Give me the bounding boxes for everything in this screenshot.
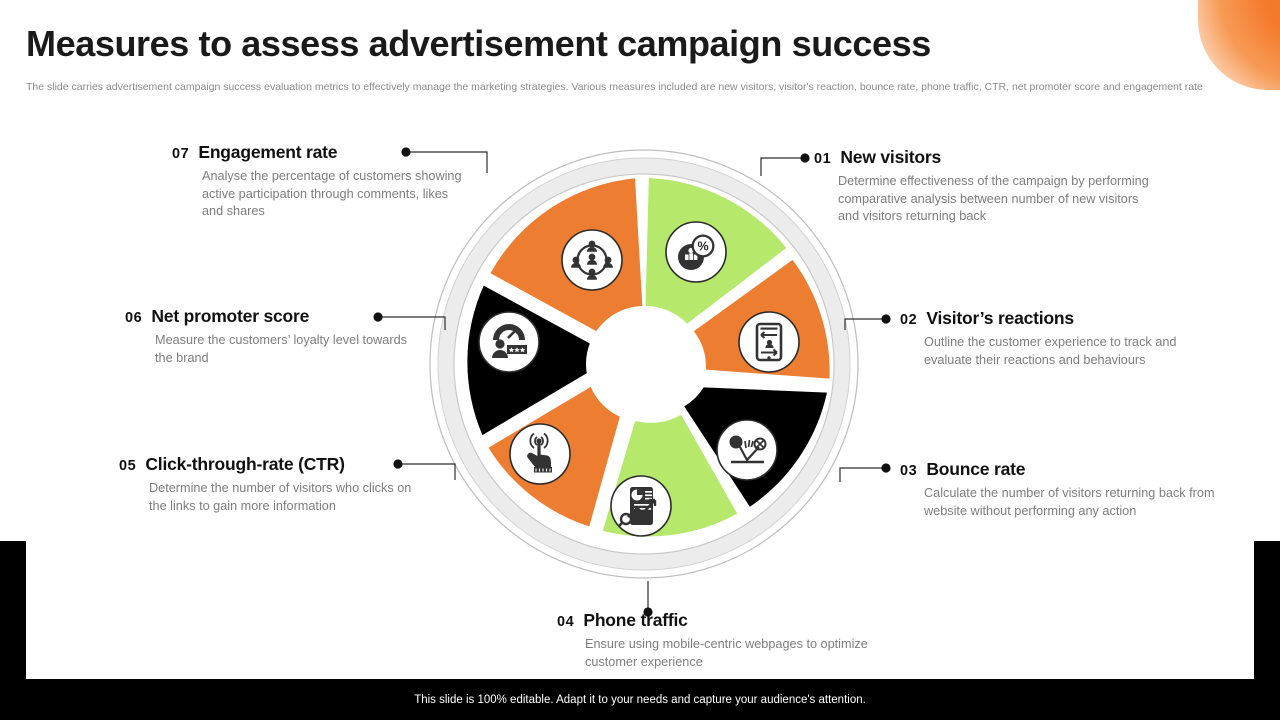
callout-description: Calculate the number of visitors returni… xyxy=(924,485,1224,520)
callout-title: Bounce rate xyxy=(926,459,1025,480)
footer-bar-right xyxy=(1254,541,1280,679)
footer-note: This slide is 100% editable. Adapt it to… xyxy=(0,679,1280,720)
callout-number: 07 xyxy=(172,146,189,162)
callout-description: Ensure using mobile-centric webpages to … xyxy=(585,636,885,671)
callout-head: 05 Click-through-rate (CTR) xyxy=(119,454,429,475)
callout-04-phone-traffic[interactable]: 04 Phone traffic Ensure using mobile-cen… xyxy=(557,610,885,671)
callout-03-bounce-rate[interactable]: 03 Bounce rate Calculate the number of v… xyxy=(924,459,1224,520)
icon-badge-04[interactable] xyxy=(611,476,671,536)
footer-bar-left xyxy=(0,541,26,679)
callout-01-new-visitors[interactable]: 01 New visitors Determine effectiveness … xyxy=(838,147,1163,226)
slide-root: Measures to assess advertisement campaig… xyxy=(0,0,1280,720)
callout-head: 02 Visitor’s reactions xyxy=(900,308,1219,329)
icon-badge-03[interactable] xyxy=(717,420,777,480)
callout-number: 06 xyxy=(125,310,142,326)
callout-description: Determine the number of visitors who cli… xyxy=(149,480,429,515)
icon-badge-02[interactable] xyxy=(739,312,799,372)
corner-decoration xyxy=(1198,0,1280,90)
callout-number: 01 xyxy=(814,151,831,167)
icon-badge-05[interactable] xyxy=(510,424,570,484)
callout-title: Net promoter score xyxy=(151,306,309,327)
page-title: Measures to assess advertisement campaig… xyxy=(26,22,1146,66)
svg-text:%: % xyxy=(697,240,708,254)
callout-title: New visitors xyxy=(840,147,941,168)
callout-07-engagement-rate[interactable]: 07 Engagement rate Analyse the percentag… xyxy=(172,142,467,221)
callout-05-click-through-rate[interactable]: 05 Click-through-rate (CTR) Determine th… xyxy=(119,454,429,515)
callout-head: 03 Bounce rate xyxy=(900,459,1224,480)
callout-title: Click-through-rate (CTR) xyxy=(145,454,344,475)
callout-head: 04 Phone traffic xyxy=(557,610,885,631)
callout-title: Visitor’s reactions xyxy=(926,308,1074,329)
callout-description: Outline the customer experience to track… xyxy=(924,334,1219,369)
callout-title: Phone traffic xyxy=(583,610,687,631)
callout-description: Measure the customers’ loyalty level tow… xyxy=(155,332,410,367)
icon-badge-06[interactable] xyxy=(479,312,539,372)
connector-dot-02 xyxy=(881,314,890,323)
callout-number: 04 xyxy=(557,614,574,630)
callout-description: Analyse the percentage of customers show… xyxy=(202,168,467,221)
page-subtitle: The slide carries advertisement campaign… xyxy=(26,80,1231,95)
callout-head: 01 New visitors xyxy=(814,147,1163,168)
wheel-center-hub xyxy=(586,306,702,422)
icon-badge-07[interactable] xyxy=(562,230,622,290)
callout-02-visitors-reactions[interactable]: 02 Visitor’s reactions Outline the custo… xyxy=(924,308,1219,369)
icon-badge-01[interactable]: % xyxy=(666,222,726,282)
callout-06-net-promoter-score[interactable]: 06 Net promoter score Measure the custom… xyxy=(125,306,410,367)
callout-number: 03 xyxy=(900,463,917,479)
callout-number: 02 xyxy=(900,312,917,328)
segmented-wheel-diagram: .ic { fill:#333; } .icw{ fill:#ffffff; }… xyxy=(428,148,860,580)
callout-description: Determine effectiveness of the campaign … xyxy=(838,173,1163,226)
callout-title: Engagement rate xyxy=(198,142,337,163)
callout-number: 05 xyxy=(119,458,136,474)
callout-head: 06 Net promoter score xyxy=(125,306,410,327)
connector-dot-03 xyxy=(881,463,890,472)
callout-head: 07 Engagement rate xyxy=(172,142,467,163)
